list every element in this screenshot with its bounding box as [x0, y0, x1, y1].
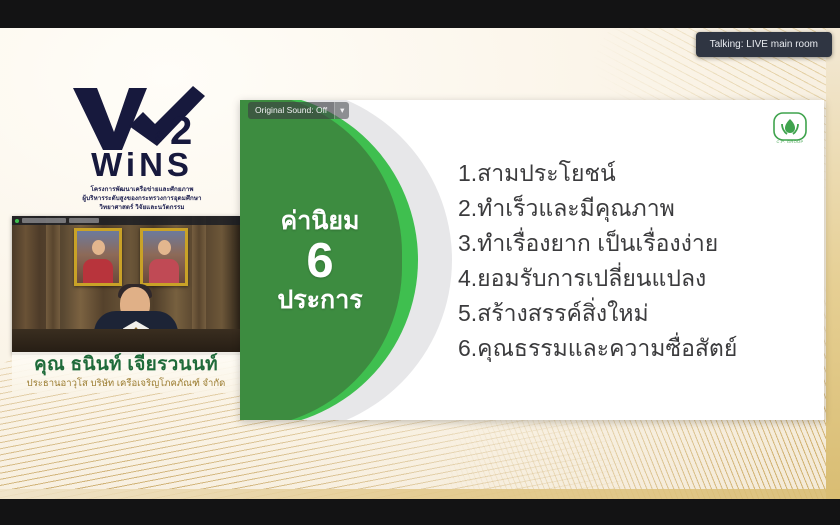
list-item: 5.สร้างสรรค์สิ่งใหม่	[458, 296, 808, 331]
wins-checkmark-icon: # 2	[44, 86, 240, 152]
video-tile-overlay-bar	[12, 216, 240, 225]
overlay-label-chip-primary	[22, 218, 66, 223]
list-item: 4.ยอมรับการเปลี่ยนแปลง	[458, 261, 808, 296]
speaker-nameplate: คุณ ธนินท์ เจียรวนนท์ ประธานอาวุโส บริษั…	[12, 352, 240, 393]
talking-indicator-toast: Talking: LIVE main room	[696, 32, 832, 57]
slide-values-list: 1.สามประโยชน์ 2.ทำเร็วและมีคุณภาพ 3.ทำเร…	[458, 156, 808, 366]
letterbox-bar-bottom	[0, 499, 840, 525]
portrait-head	[92, 240, 105, 255]
cp-group-logo-icon: C.P. GROUP	[772, 112, 808, 146]
speaker-video-tile[interactable]	[12, 216, 240, 355]
svg-text:#: #	[155, 127, 165, 146]
letterbox-bar-top	[0, 0, 840, 28]
slide-title-block: ค่านิยม 6 ประการ	[250, 208, 390, 314]
portrait-body	[83, 259, 113, 283]
recording-dot-icon	[15, 219, 19, 223]
wins-subtitle-line-1: โครงการพัฒนาเครือข่ายและศักยภาพ	[44, 186, 240, 195]
slide-title-number: 6	[250, 236, 390, 287]
list-item: 2.ทำเร็วและมีคุณภาพ	[458, 191, 808, 226]
portrait-body	[149, 259, 179, 283]
speaker-title: ประธานอาวุโส บริษัท เครือเจริญโภคภัณฑ์ จ…	[12, 378, 240, 389]
gold-edge-bottom	[0, 489, 840, 499]
cp-logo-caption: C.P. GROUP	[772, 139, 808, 144]
values-list: 1.สามประโยชน์ 2.ทำเร็วและมีคุณภาพ 3.ทำเร…	[458, 156, 808, 366]
wins-wordmark: WiNS	[44, 148, 240, 181]
meeting-screen-share-view: Talking: LIVE main room # 2 WiNS โครงการ…	[0, 0, 840, 525]
portrait-head	[158, 240, 171, 255]
royal-portrait-right	[140, 228, 188, 286]
wins-subtitle-line-3: วิทยาศาสตร์ วิจัยและนวัตกรรม	[44, 204, 240, 213]
list-item: 3.ทำเรื่องยาก เป็นเรื่องง่าย	[458, 226, 808, 261]
slide-title-line-2: ประการ	[250, 287, 390, 315]
royal-portrait-left	[74, 228, 122, 286]
overlay-label-chip-secondary	[69, 218, 99, 223]
slide-title-line-1: ค่านิยม	[250, 208, 390, 236]
svg-text:2: 2	[170, 109, 192, 152]
wins-subtitle: โครงการพัฒนาเครือข่ายและศักยภาพ ผู้บริหา…	[44, 186, 240, 213]
shared-slide[interactable]: ค่านิยม 6 ประการ 1.สามประโยชน์ 2.ทำเร็วแ…	[240, 100, 824, 420]
list-item: 1.สามประโยชน์	[458, 156, 808, 191]
list-item: 6.คุณธรรมและความซื่อสัตย์	[458, 331, 808, 366]
original-sound-label[interactable]: Original Sound: Off	[248, 102, 334, 119]
chevron-down-icon[interactable]: ▾	[334, 102, 349, 119]
speaker-name: คุณ ธนินท์ เจียรวนนท์	[12, 354, 240, 377]
wins-program-logo: # 2 WiNS โครงการพัฒนาเครือข่ายและศักยภาพ…	[44, 86, 240, 210]
gold-edge-right	[826, 28, 840, 499]
original-sound-control[interactable]: Original Sound: Off ▾	[248, 102, 349, 119]
wins-subtitle-line-2: ผู้บริหารระดับสูงของกระทรวงการอุดมศึกษา	[44, 195, 240, 204]
